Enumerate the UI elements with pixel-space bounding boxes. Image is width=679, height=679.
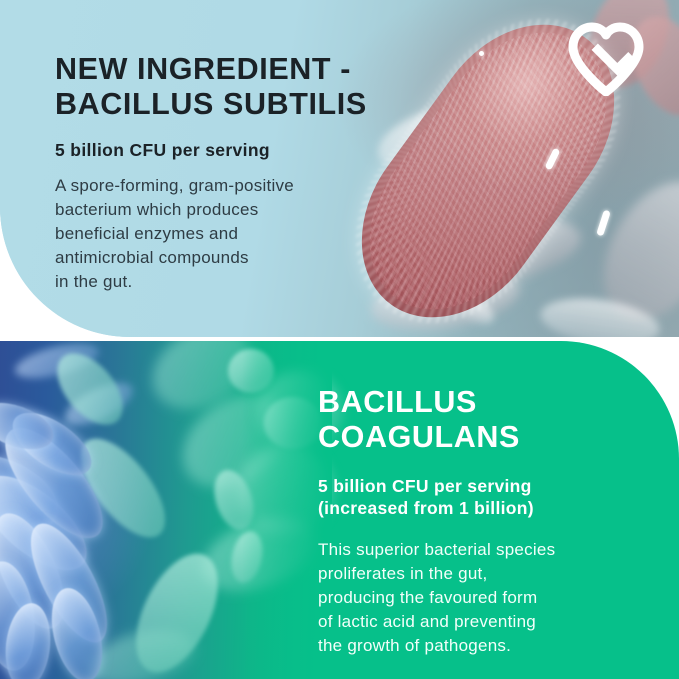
background-rod-shape [82, 620, 201, 679]
top-panel-body: A spore-forming, gram-positive bacterium… [55, 174, 415, 294]
bacterium-rod [2, 601, 55, 679]
bottom-panel-photo-background [0, 341, 330, 679]
top-panel-subtitle: 5 billion CFU per serving [55, 140, 415, 161]
bottom-panel-body: This superior bacterial species prolifer… [318, 538, 668, 659]
bacterium-rod [0, 558, 41, 674]
infographic-root: NEW INGREDIENT - BACILLUS SUBTILIS 5 bil… [0, 0, 679, 679]
background-rod-shape [59, 374, 139, 433]
bottom-panel-subtitle: 5 billion CFU per serving (increased fro… [318, 475, 668, 520]
background-rod-shape [12, 341, 102, 385]
bacterium-rod [0, 440, 70, 547]
bacterium-rod [45, 341, 136, 436]
top-panel-bacillus-subtilis: NEW INGREDIENT - BACILLUS SUBTILIS 5 bil… [0, 0, 679, 337]
heart-logo-icon [566, 22, 646, 96]
bacterium-rod [43, 583, 111, 679]
bacterium-rod [16, 513, 122, 653]
bacterium-rod [119, 541, 234, 679]
bacterium-rod [0, 459, 102, 587]
bacterium-speck [479, 51, 484, 56]
top-panel-heading: NEW INGREDIENT - BACILLUS SUBTILIS [55, 52, 415, 123]
bacterium-rod [0, 503, 79, 638]
top-panel-text-block: NEW INGREDIENT - BACILLUS SUBTILIS 5 bil… [55, 52, 415, 294]
bacterium-rod [207, 465, 260, 535]
bottom-panel-heading: BACILLUS COAGULANS [318, 385, 668, 456]
background-rod-shape [192, 502, 327, 605]
bacterium-rod [2, 401, 101, 488]
bacterium-rod [227, 528, 267, 585]
bacterium-rod [264, 397, 322, 449]
background-rod-shape [166, 375, 307, 506]
bacterium-rod [0, 394, 59, 458]
bacterium-rod [228, 349, 274, 393]
bottom-panel-bacillus-coagulans: BACILLUS COAGULANS 5 billion CFU per ser… [0, 341, 679, 679]
bacterium-rod [0, 413, 119, 553]
bacterium-rod [65, 425, 180, 551]
bottom-panel-text-block: BACILLUS COAGULANS 5 billion CFU per ser… [318, 385, 668, 658]
background-rod-shape [139, 341, 266, 425]
